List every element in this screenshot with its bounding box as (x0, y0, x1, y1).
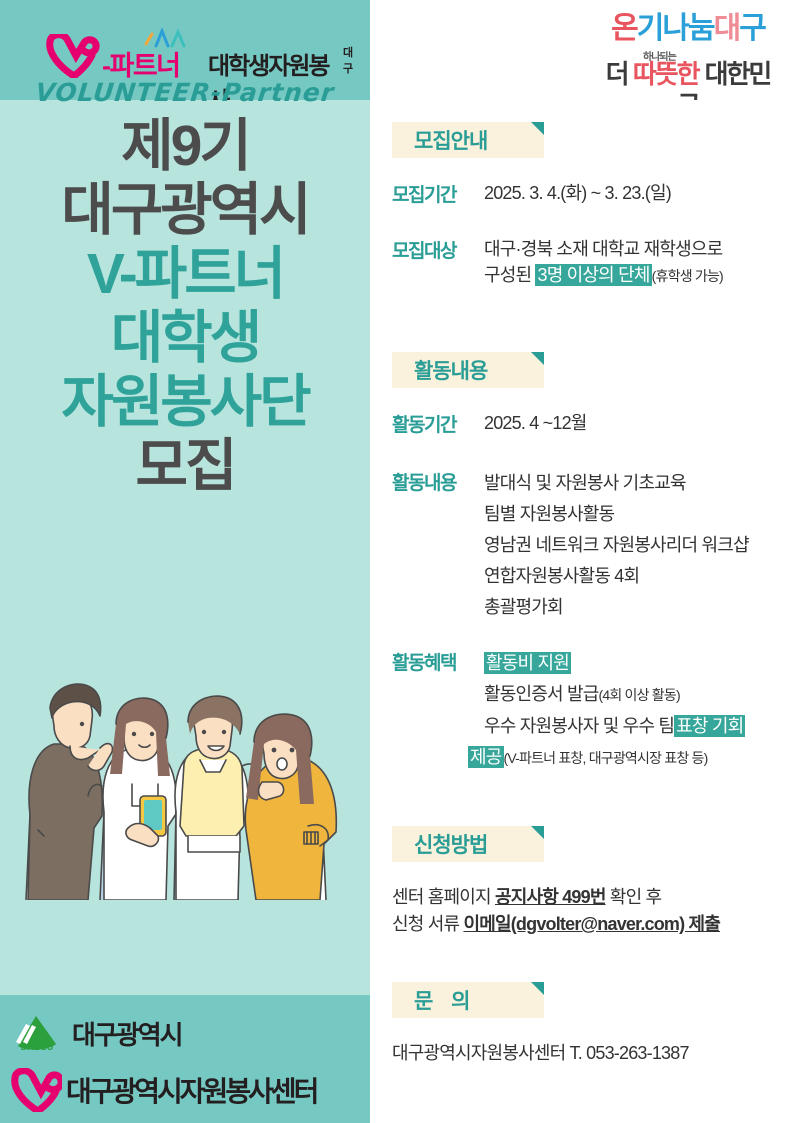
row-label: 모집대상 (392, 236, 484, 263)
slogan-char-3: 나 (662, 12, 688, 45)
fold-corner-icon (531, 352, 544, 365)
volunteer-heart-icon (10, 1068, 62, 1112)
slogan-char-5: 대 (714, 12, 740, 45)
section-label-text: 모집안내 (392, 125, 487, 155)
apply-line2-prefix: 신청 서류 (392, 914, 463, 934)
how-to-apply-text: 센터 홈페이지 공지사항 499번 확인 후 신청 서류 이메일(dgvolte… (392, 884, 720, 938)
title-line-2: 대구광역시 (0, 178, 370, 242)
slogan-char-2: 기 (637, 12, 663, 45)
section-label-contact: 문 의 (392, 982, 544, 1018)
section-label-text: 활동내용 (392, 355, 487, 385)
svg-text:DAEGU: DAEGU (21, 1042, 54, 1052)
apply-notice-number[interactable]: 공지사항 499번 (495, 887, 606, 907)
title-line-1: 제9기 (0, 114, 370, 178)
slogan-char-4: 눔 (688, 12, 714, 45)
vpartner-logo: -파트너 대학생자원봉사 대구 (46, 28, 346, 80)
slogan-char-6: 구 (739, 12, 765, 45)
slogan-char-1: 온 (611, 12, 637, 45)
benefit-item-4-note: (V-파트너 표창, 대구광역시장 표창 등) (504, 750, 708, 766)
activity-item-4: 연합자원봉사활동 4회 (484, 561, 749, 592)
section-label-how-to-apply: 신청방법 (392, 826, 544, 862)
recruit-target-note: (휴학생 가능) (652, 268, 723, 284)
benefit-item-2-note: (4회 이상 활동) (599, 687, 680, 703)
benefit-item-1: 활동비 지원 (484, 652, 571, 674)
benefit-item-3-highlight: 표창 기회 (674, 715, 745, 737)
row-recruit-target: 모집대상 대구·경북 소재 대학교 재학생으로 구성된 3명 이상의 단체(휴학… (392, 236, 723, 289)
title-line-3: V-파트너 (0, 242, 370, 306)
daegu-city-label: 대구광역시 (72, 1015, 182, 1052)
row-activity-period: 활동기간 2025. 4 ~12월 (392, 410, 587, 437)
vpartner-region-text: 대구 (343, 44, 352, 76)
activity-item-5: 총괄평가회 (484, 592, 749, 623)
benefit-item-3: 우수 자원봉사자 및 우수 팀 (484, 716, 674, 736)
row-value: 2025. 3. 4.(화) ~ 3. 23.(일) (484, 180, 671, 206)
recruit-target-line1: 대구·경북 소재 대학교 재학생으로 (484, 239, 722, 259)
slogan-line2-a: 더 (606, 59, 633, 89)
poster-title: 제9기 대구광역시 V-파트너 대학생 자원봉사단 모집 (0, 114, 370, 498)
daegu-slogan-logo: 온기나눔대구 하나되는 더 따뜻한대한민국 (598, 14, 778, 92)
fold-corner-icon (531, 982, 544, 995)
students-illustration (8, 600, 364, 900)
row-label: 활동기간 (392, 410, 484, 437)
row-value: 대구·경북 소재 대학교 재학생으로 구성된 3명 이상의 단체(휴학생 가능) (484, 236, 723, 289)
fold-corner-icon (531, 826, 544, 839)
row-activity-benefits: 활동혜택 활동비 지원 활동인증서 발급(4회 이상 활동) 우수 자원봉사자 … (392, 648, 745, 774)
benefit-item-4-highlight: 제공 (468, 746, 504, 768)
volunteer-center-label: 대구광역시자원봉사센터 (66, 1070, 316, 1110)
poster-root: -파트너 대학생자원봉사 대구 온기나눔대구 하나되는 더 따뜻한대한민국 VO… (0, 0, 794, 1123)
activity-item-3: 영남권 네트워크 자원봉사리더 워크샵 (484, 530, 749, 561)
contact-phone-line: 대구광역시자원봉사센터 T. 053-263-1387 (392, 1043, 689, 1063)
section-label-text: 신청방법 (392, 829, 487, 859)
title-line-5: 자원봉사단 (0, 370, 370, 434)
v-heart-icon (46, 34, 102, 78)
section-label-recruit-info: 모집안내 (392, 122, 544, 158)
recruit-target-highlight: 3명 이상의 단체 (535, 264, 651, 286)
row-label: 활동혜택 (392, 648, 484, 675)
activity-item-2: 팀별 자원봉사활동 (484, 499, 749, 530)
volunteer-center-logo: 대구광역시자원봉사센터 (10, 1068, 316, 1112)
contact-text: 대구광역시자원봉사센터 T. 053-263-1387 (392, 1040, 689, 1067)
slogan-line2-b: 따뜻한 (633, 59, 699, 89)
recruit-target-prefix: 구성된 (484, 265, 535, 285)
script-subtitle: VOLUNTEER-Partner (0, 78, 372, 107)
title-line-6: 모집 (0, 434, 370, 498)
benefit-item-2: 활동인증서 발급 (484, 684, 599, 704)
section-label-text: 문 의 (392, 985, 476, 1015)
apply-line1-suffix: 확인 후 (606, 887, 662, 907)
title-line-4: 대학생 (0, 306, 370, 370)
row-activity-contents: 활동내용 발대식 및 자원봉사 기초교육 팀별 자원봉사활동 영남권 네트워크 … (392, 468, 749, 623)
row-recruit-period: 모집기간 2025. 3. 4.(화) ~ 3. 23.(일) (392, 180, 671, 207)
row-value: 발대식 및 자원봉사 기초교육 팀별 자원봉사활동 영남권 네트워크 자원봉사리… (484, 468, 749, 623)
row-value: 활동비 지원 활동인증서 발급(4회 이상 활동) 우수 자원봉사자 및 우수 … (484, 648, 745, 774)
section-label-activity-info: 활동내용 (392, 352, 544, 388)
activity-period-value: 2025. 4 ~12월 (484, 413, 587, 433)
recruit-period-value: 2025. 3. 4.(화) ~ 3. 23.(일) (484, 183, 671, 203)
row-value: 2025. 4 ~12월 (484, 410, 587, 436)
apply-line1-prefix: 센터 홈페이지 (392, 887, 495, 907)
fold-corner-icon (531, 122, 544, 135)
daegu-city-logo: DAEGU 대구광역시 (10, 1012, 182, 1054)
apply-email-link[interactable]: 이메일(dgvolter@naver.com) 제출 (463, 914, 720, 934)
slogan-subtext: 하나되는 (643, 48, 676, 63)
daegu-city-emblem-icon: DAEGU (10, 1012, 64, 1054)
activity-item-1: 발대식 및 자원봉사 기초교육 (484, 468, 749, 499)
row-label: 모집기간 (392, 180, 484, 207)
row-label: 활동내용 (392, 468, 484, 495)
